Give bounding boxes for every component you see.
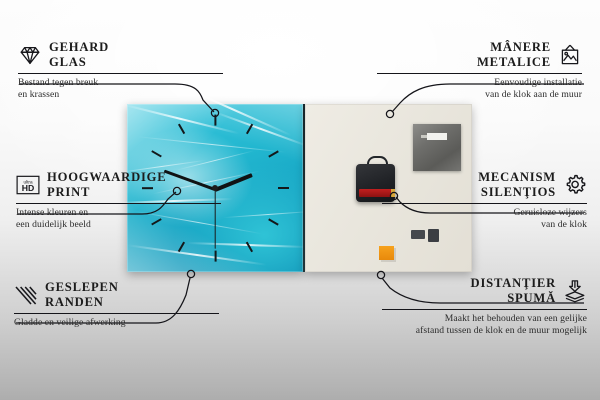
diamond-icon bbox=[18, 43, 42, 67]
feature-geslepen-randen: GESLEPEN RANDEN Gladde en veilige afwerk… bbox=[14, 280, 219, 329]
feature-title-line1: DISTANŢIER bbox=[471, 276, 556, 291]
feature-subtitle-line2: en krassen bbox=[18, 89, 223, 101]
feature-subtitle-line1: Maakt het behouden van een gelijke bbox=[382, 313, 587, 325]
feature-divider bbox=[14, 313, 219, 314]
feature-title-line1: GEHARD bbox=[49, 40, 109, 55]
feature-title: GESLEPEN RANDEN bbox=[45, 280, 119, 310]
gear-icon bbox=[563, 173, 587, 197]
clock-tick bbox=[177, 124, 184, 134]
feature-title-line2: METALICE bbox=[477, 55, 551, 70]
ultra-hd-icon: ultra HD bbox=[16, 173, 40, 197]
feature-hoogwaardige-print: ultra HD HOOGWAARDIGE PRINT Intense kleu… bbox=[16, 170, 221, 232]
feature-subtitle: Gladde en veilige afwerking bbox=[14, 317, 219, 329]
feature-title: MÂNERE METALICE bbox=[477, 40, 551, 70]
feature-title-line2: SPUMĂ bbox=[471, 291, 556, 306]
clock-tick bbox=[177, 242, 184, 252]
feature-subtitle-line2: van de klok bbox=[382, 219, 587, 231]
feature-subtitle-line1: Bestand tegen breuk bbox=[18, 77, 223, 89]
clock-tick bbox=[269, 218, 279, 225]
foam-spacer-icon bbox=[563, 279, 587, 303]
feature-subtitle-line1: Gladde en veilige afwerking bbox=[14, 317, 219, 329]
feature-title-line2: PRINT bbox=[47, 185, 166, 200]
feature-subtitle-line1: Intense kleuren en bbox=[16, 207, 221, 219]
feature-subtitle: Intense kleuren en een duidelijk beeld bbox=[16, 207, 221, 232]
feature-head: DISTANŢIER SPUMĂ bbox=[382, 276, 587, 306]
clock-tick bbox=[269, 150, 279, 157]
clock-tick bbox=[214, 250, 216, 261]
feature-distantier-spuma: DISTANŢIER SPUMĂ Maakt het behouden van … bbox=[382, 276, 587, 338]
feature-head: ultra HD HOOGWAARDIGE PRINT bbox=[16, 170, 221, 200]
feature-title-line2: RANDEN bbox=[45, 295, 119, 310]
feature-title-line2: SILENŢIOS bbox=[478, 185, 556, 200]
feature-subtitle: Eenvoudige installatie van de klok aan d… bbox=[377, 77, 582, 102]
feature-divider bbox=[16, 203, 221, 204]
clock-tick bbox=[278, 187, 289, 189]
clock-tick bbox=[245, 242, 252, 252]
feature-subtitle: Geruisloze wijzers van de klok bbox=[382, 207, 587, 232]
feature-subtitle: Bestand tegen breuk en krassen bbox=[18, 77, 223, 102]
feature-head: GEHARD GLAS bbox=[18, 40, 223, 70]
feature-subtitle-line2: een duidelijk beeld bbox=[16, 219, 221, 231]
foam-spacer bbox=[379, 246, 394, 260]
feature-title: HOOGWAARDIGE PRINT bbox=[47, 170, 166, 200]
feature-title-line1: GESLEPEN bbox=[45, 280, 119, 295]
feature-title-line1: HOOGWAARDIGE bbox=[47, 170, 166, 185]
clock-tick bbox=[245, 124, 252, 134]
feature-subtitle-line2: afstand tussen de klok en de muur mogeli… bbox=[382, 325, 587, 337]
feature-head: MECANISM SILENŢIOS bbox=[382, 170, 587, 200]
feature-gehard-glas: GEHARD GLAS Bestand tegen breuk en krass… bbox=[18, 40, 223, 102]
feature-subtitle-line1: Geruisloze wijzers bbox=[382, 207, 587, 219]
feature-title-line1: MÂNERE bbox=[477, 40, 551, 55]
feature-title: MECANISM SILENŢIOS bbox=[478, 170, 556, 200]
feature-manere-metalice: MÂNERE METALICE Eenvoudige installatie v… bbox=[377, 40, 582, 102]
feature-subtitle: Maakt het behouden van een gelijke afsta… bbox=[382, 313, 587, 338]
feature-head: GESLEPEN RANDEN bbox=[14, 280, 219, 310]
picture-hanging-icon bbox=[558, 43, 582, 67]
ultra-hd-icon-bottom-text: HD bbox=[22, 183, 35, 193]
feature-divider bbox=[382, 309, 587, 310]
feature-subtitle-line1: Eenvoudige installatie bbox=[377, 77, 582, 89]
clock-tick bbox=[214, 114, 216, 125]
beveled-edges-icon bbox=[14, 283, 38, 307]
feature-divider bbox=[377, 73, 582, 74]
feature-divider bbox=[382, 203, 587, 204]
feature-title-line1: MECANISM bbox=[478, 170, 556, 185]
hanger-slot bbox=[427, 133, 447, 140]
infographic-canvas: GEHARD GLAS Bestand tegen breuk en krass… bbox=[0, 0, 600, 400]
feature-title-line2: GLAS bbox=[49, 55, 109, 70]
feature-mecanism-silentios: MECANISM SILENŢIOS Geruisloze wijzers va… bbox=[382, 170, 587, 232]
metal-hanger-plate bbox=[413, 124, 461, 171]
feature-subtitle-line2: van de klok aan de muur bbox=[377, 89, 582, 101]
feature-head: MÂNERE METALICE bbox=[377, 40, 582, 70]
feature-divider bbox=[18, 73, 223, 74]
feature-title: GEHARD GLAS bbox=[49, 40, 109, 70]
feature-title: DISTANŢIER SPUMĂ bbox=[471, 276, 556, 306]
clock-tick bbox=[151, 150, 161, 157]
